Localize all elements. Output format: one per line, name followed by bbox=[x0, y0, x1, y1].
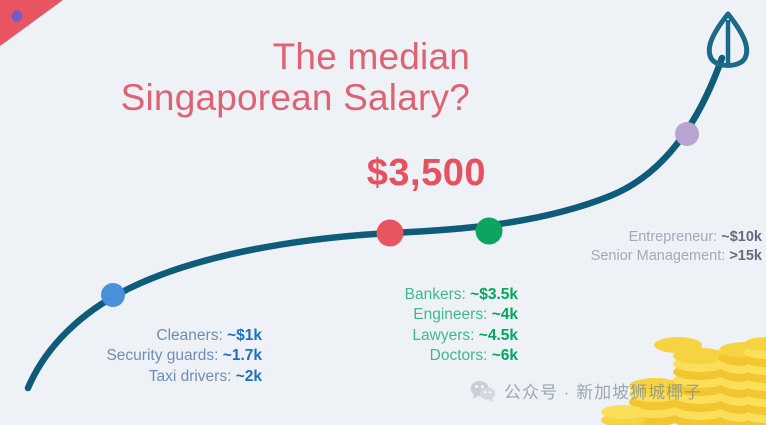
job-label: Lawyers: bbox=[412, 327, 474, 344]
job-label: Bankers: bbox=[405, 286, 466, 303]
job-value: ~4.5k bbox=[479, 327, 518, 344]
page-title: The median Singaporean Salary? bbox=[0, 36, 470, 119]
infographic-canvas: The median Singaporean Salary? $3,500 Cl… bbox=[0, 0, 766, 425]
job-value: ~1.7k bbox=[223, 347, 262, 364]
job-value: ~6k bbox=[492, 347, 518, 364]
wechat-icon bbox=[470, 380, 496, 402]
job-value: ~2k bbox=[236, 368, 262, 385]
watermark-text: 公众号 · 新加坡狮城椰子 bbox=[504, 378, 702, 403]
job-value: ~$10k bbox=[721, 229, 762, 245]
job-label: Doctors: bbox=[430, 347, 488, 364]
watermark: 公众号 · 新加坡狮城椰子 bbox=[470, 378, 702, 403]
headline-value: $3,500 bbox=[0, 152, 486, 195]
list-item: Bankers: ~$3.5k bbox=[296, 285, 518, 305]
list-item: Lawyers: ~4.5k bbox=[296, 326, 518, 346]
job-label: Security guards: bbox=[106, 347, 218, 364]
job-label: Senior Management: bbox=[591, 248, 726, 264]
job-value: ~$1k bbox=[227, 327, 262, 344]
salary-group-professional: Bankers: ~$3.5k Engineers: ~4k Lawyers: … bbox=[296, 285, 518, 367]
job-label: Cleaners: bbox=[156, 327, 222, 344]
salary-group-entry: Cleaners: ~$1k Security guards: ~1.7k Ta… bbox=[0, 326, 262, 387]
job-label: Taxi drivers: bbox=[149, 368, 232, 385]
job-value: ~$3.5k bbox=[470, 286, 518, 303]
job-value: ~4k bbox=[492, 306, 518, 323]
list-item: Cleaners: ~$1k bbox=[0, 326, 262, 346]
job-value: >15k bbox=[729, 248, 762, 264]
job-label: Entrepreneur: bbox=[629, 229, 718, 245]
list-item: Taxi drivers: ~2k bbox=[0, 367, 262, 387]
title-line-2: Singaporean Salary? bbox=[0, 77, 470, 118]
job-label: Engineers: bbox=[413, 306, 487, 323]
title-line-1: The median bbox=[0, 36, 470, 77]
list-item: Doctors: ~6k bbox=[296, 346, 518, 366]
list-item: Security guards: ~1.7k bbox=[0, 346, 262, 366]
list-item: Entrepreneur: ~$10k bbox=[470, 228, 762, 247]
list-item: Senior Management: >15k bbox=[470, 247, 762, 266]
list-item: Engineers: ~4k bbox=[296, 305, 518, 325]
salary-group-top: Entrepreneur: ~$10k Senior Management: >… bbox=[470, 228, 762, 266]
